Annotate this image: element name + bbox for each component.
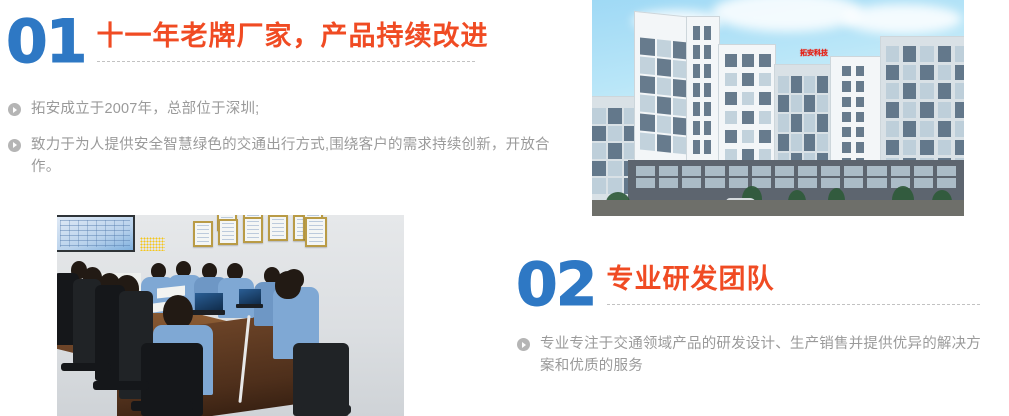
chair-base xyxy=(131,401,193,411)
certificate-frame xyxy=(193,221,213,247)
bullet-text: 专业专注于交通领域产品的研发设计、生产销售并提供优异的解决方案和优质的服务 xyxy=(540,334,992,378)
window-grid xyxy=(886,46,964,174)
section-02-divider xyxy=(607,304,980,305)
bullet-text: 拓安成立于2007年，总部位于深圳; xyxy=(31,99,259,121)
section-01-heading: 01 十一年老牌厂家，产品持续改进 xyxy=(6,15,489,70)
presentation-screen xyxy=(57,215,135,252)
chair-base xyxy=(301,405,351,414)
list-item: 拓安成立于2007年，总部位于深圳; xyxy=(8,99,568,121)
section-02-title-wrap: 专业研发团队 xyxy=(607,258,775,295)
rooftop-sign: 拓安科技 xyxy=(800,48,828,58)
section-01-number: 01 xyxy=(6,15,86,70)
list-item: 专业专注于交通领域产品的研发设计、生产销售并提供优异的解决方案和优质的服务 xyxy=(517,334,1009,378)
screen-content xyxy=(60,220,130,247)
window-grid xyxy=(778,76,828,170)
arrow-circle-icon xyxy=(8,103,21,116)
chair-base xyxy=(61,363,111,371)
street-ground xyxy=(592,200,964,216)
promo-page: 01 十一年老牌厂家，产品持续改进 拓安成立于2007年，总部位于深圳; 致力于… xyxy=(0,0,1009,416)
arrow-circle-icon xyxy=(517,338,530,351)
section-02-heading: 02 专业研发团队 xyxy=(516,258,775,313)
bullet-text: 致力于为人提供安全智慧绿色的交通出行方式,围绕客户的需求持续创新，开放合作。 xyxy=(31,135,568,179)
certificate-frame xyxy=(268,215,288,241)
section-02-bullets: 专业专注于交通领域产品的研发设计、生产销售并提供优异的解决方案和优质的服务 xyxy=(517,334,1009,392)
list-item: 致力于为人提供安全智慧绿色的交通出行方式,围绕客户的需求持续创新，开放合作。 xyxy=(8,135,568,179)
section-01-bullets: 拓安成立于2007年，总部位于深圳; 致力于为人提供安全智慧绿色的交通出行方式,… xyxy=(8,99,568,192)
yellow-dot-pattern xyxy=(140,237,165,251)
company-building-photo: 拓安科技 xyxy=(592,0,964,216)
section-02-title: 专业研发团队 xyxy=(607,264,775,295)
chair-base xyxy=(93,381,149,390)
laptop-base xyxy=(236,304,263,308)
certificate-frame xyxy=(218,219,238,245)
laptop-screen xyxy=(195,293,223,311)
laptop-screen xyxy=(239,289,261,305)
section-02-number: 02 xyxy=(516,258,596,313)
section-01-divider xyxy=(97,61,475,62)
window-grid xyxy=(842,66,864,168)
window-grid xyxy=(640,37,688,154)
person-head xyxy=(275,271,301,299)
section-01-title: 十一年老牌厂家，产品持续改进 xyxy=(97,21,489,52)
certificate-frame xyxy=(243,217,263,243)
window-grid xyxy=(725,54,771,162)
rd-team-meeting-photo xyxy=(57,215,404,416)
cloud xyxy=(842,4,962,34)
certificate-frame xyxy=(305,217,327,247)
person-head xyxy=(163,295,193,329)
arrow-circle-icon xyxy=(8,139,21,152)
window-grid xyxy=(693,26,711,154)
section-01-title-wrap: 十一年老牌厂家，产品持续改进 xyxy=(97,15,489,52)
laptop-base xyxy=(192,310,225,315)
podium-window-grid xyxy=(636,166,956,188)
